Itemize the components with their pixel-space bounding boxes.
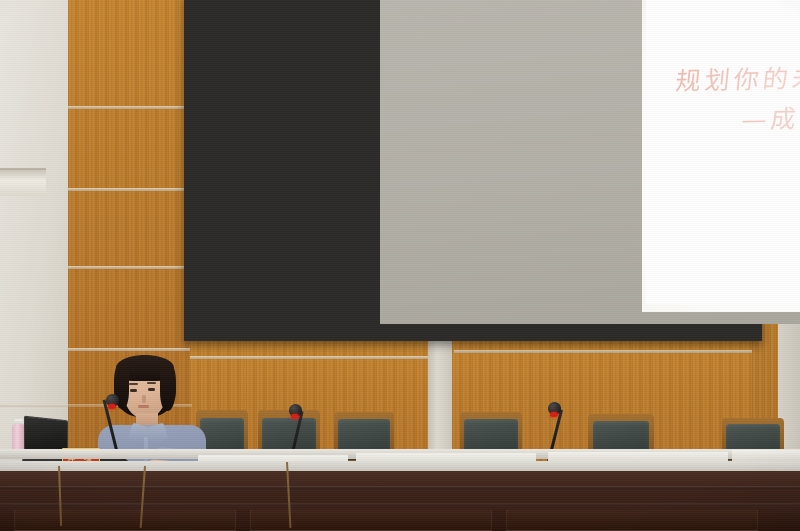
table-front-panel <box>250 509 492 531</box>
slide-title-block: 规划你的未来 —成为最好的自己 <box>646 0 800 304</box>
eye-right <box>148 388 155 391</box>
slide-title-line-1: 规划你的未来 <box>674 58 800 98</box>
panel-seam <box>190 356 428 359</box>
panel-seam <box>68 348 192 351</box>
projection-screen-frame: 规划你的未来 —成为最好的自己 谭 瑾 化学与环境工程学院 <box>184 0 762 341</box>
panel-seam <box>68 266 192 269</box>
projection-screen-surface: 规划你的未来 —成为最好的自己 谭 瑾 化学与环境工程学院 <box>380 0 800 324</box>
slide-presenter-name: 谭 瑾 <box>646 190 800 203</box>
lecture-hall-photo: 规划你的未来 —成为最好的自己 谭 瑾 化学与环境工程学院 <box>0 0 800 531</box>
slide-title-line-2: —成为最好的自己 <box>740 96 800 137</box>
panel-seam <box>454 350 752 353</box>
slide-presenter-department: 化学与环境工程学院 <box>646 218 800 231</box>
projected-slide: 规划你的未来 —成为最好的自己 谭 瑾 化学与环境工程学院 <box>642 0 800 312</box>
table-groove <box>0 486 800 489</box>
desk-paper <box>732 450 800 461</box>
eyebrow-right <box>147 382 156 384</box>
table-front-panel <box>14 509 236 531</box>
nose <box>142 395 146 403</box>
panel-seam <box>68 188 192 191</box>
wall-alcove-light <box>0 168 46 196</box>
microphone-indicator <box>108 404 116 409</box>
slide-canvas: 规划你的未来 —成为最好的自己 谭 瑾 化学与环境工程学院 <box>646 0 800 304</box>
hair-side-right <box>160 363 176 411</box>
eye-left <box>130 389 137 392</box>
table-front-panel <box>506 509 758 531</box>
eyebrow-left <box>129 383 138 385</box>
microphone-indicator <box>291 414 299 419</box>
mouth <box>138 405 149 408</box>
panel-seam <box>68 106 192 109</box>
microphone-indicator <box>550 412 558 417</box>
